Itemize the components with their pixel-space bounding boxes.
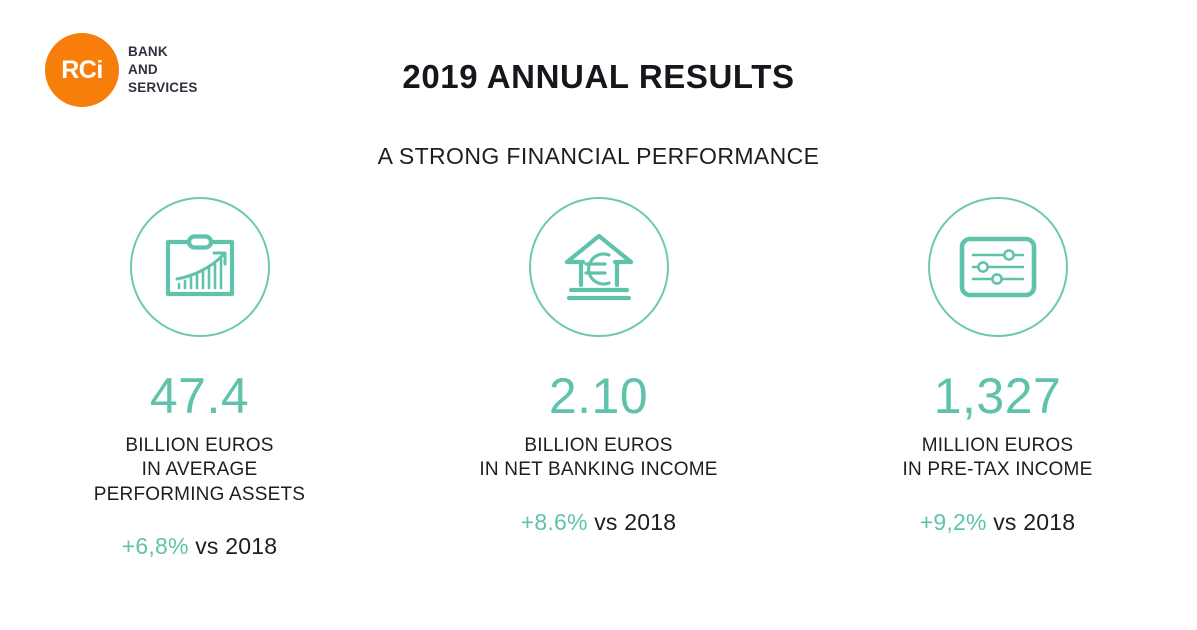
infographic-page: RCi BANKANDSERVICES 2019 ANNUAL RESULTS … — [0, 0, 1197, 630]
growth-comparison: vs 2018 — [594, 509, 676, 535]
stat-growth: +6,8% vs 2018 — [122, 533, 277, 560]
growth-percentage: +8.6% — [521, 509, 588, 535]
bank-euro-icon — [559, 230, 639, 304]
growth-percentage: +9,2% — [920, 509, 987, 535]
stats-row: 47.4 BILLION EUROSIN AVERAGEPERFORMING A… — [0, 197, 1197, 560]
stat-label: MILLION EUROSIN PRE-TAX INCOME — [903, 434, 1093, 483]
stat-value: 47.4 — [150, 371, 249, 421]
chart-growth-clipboard-icon — [160, 232, 240, 302]
page-subtitle: A STRONG FINANCIAL PERFORMANCE — [0, 143, 1197, 170]
icon-circle — [928, 197, 1068, 337]
stat-value: 1,327 — [934, 371, 1062, 421]
page-title: 2019 ANNUAL RESULTS — [0, 58, 1197, 96]
stat-column-performing-assets: 47.4 BILLION EUROSIN AVERAGEPERFORMING A… — [0, 197, 399, 560]
stat-value: 2.10 — [549, 371, 648, 421]
growth-comparison: vs 2018 — [195, 533, 277, 559]
icon-circle — [130, 197, 270, 337]
stat-label: BILLION EUROSIN AVERAGEPERFORMING ASSETS — [94, 434, 305, 507]
stat-growth: +8.6% vs 2018 — [521, 509, 676, 536]
icon-circle — [529, 197, 669, 337]
growth-percentage: +6,8% — [122, 533, 189, 559]
stat-column-pre-tax-income: 1,327 MILLION EUROSIN PRE-TAX INCOME +9,… — [798, 197, 1197, 560]
stat-growth: +9,2% vs 2018 — [920, 509, 1075, 536]
growth-comparison: vs 2018 — [993, 509, 1075, 535]
stat-column-net-banking-income: 2.10 BILLION EUROSIN NET BANKING INCOME … — [399, 197, 798, 560]
stat-label: BILLION EUROSIN NET BANKING INCOME — [479, 434, 717, 483]
sliders-settings-icon — [959, 236, 1037, 298]
